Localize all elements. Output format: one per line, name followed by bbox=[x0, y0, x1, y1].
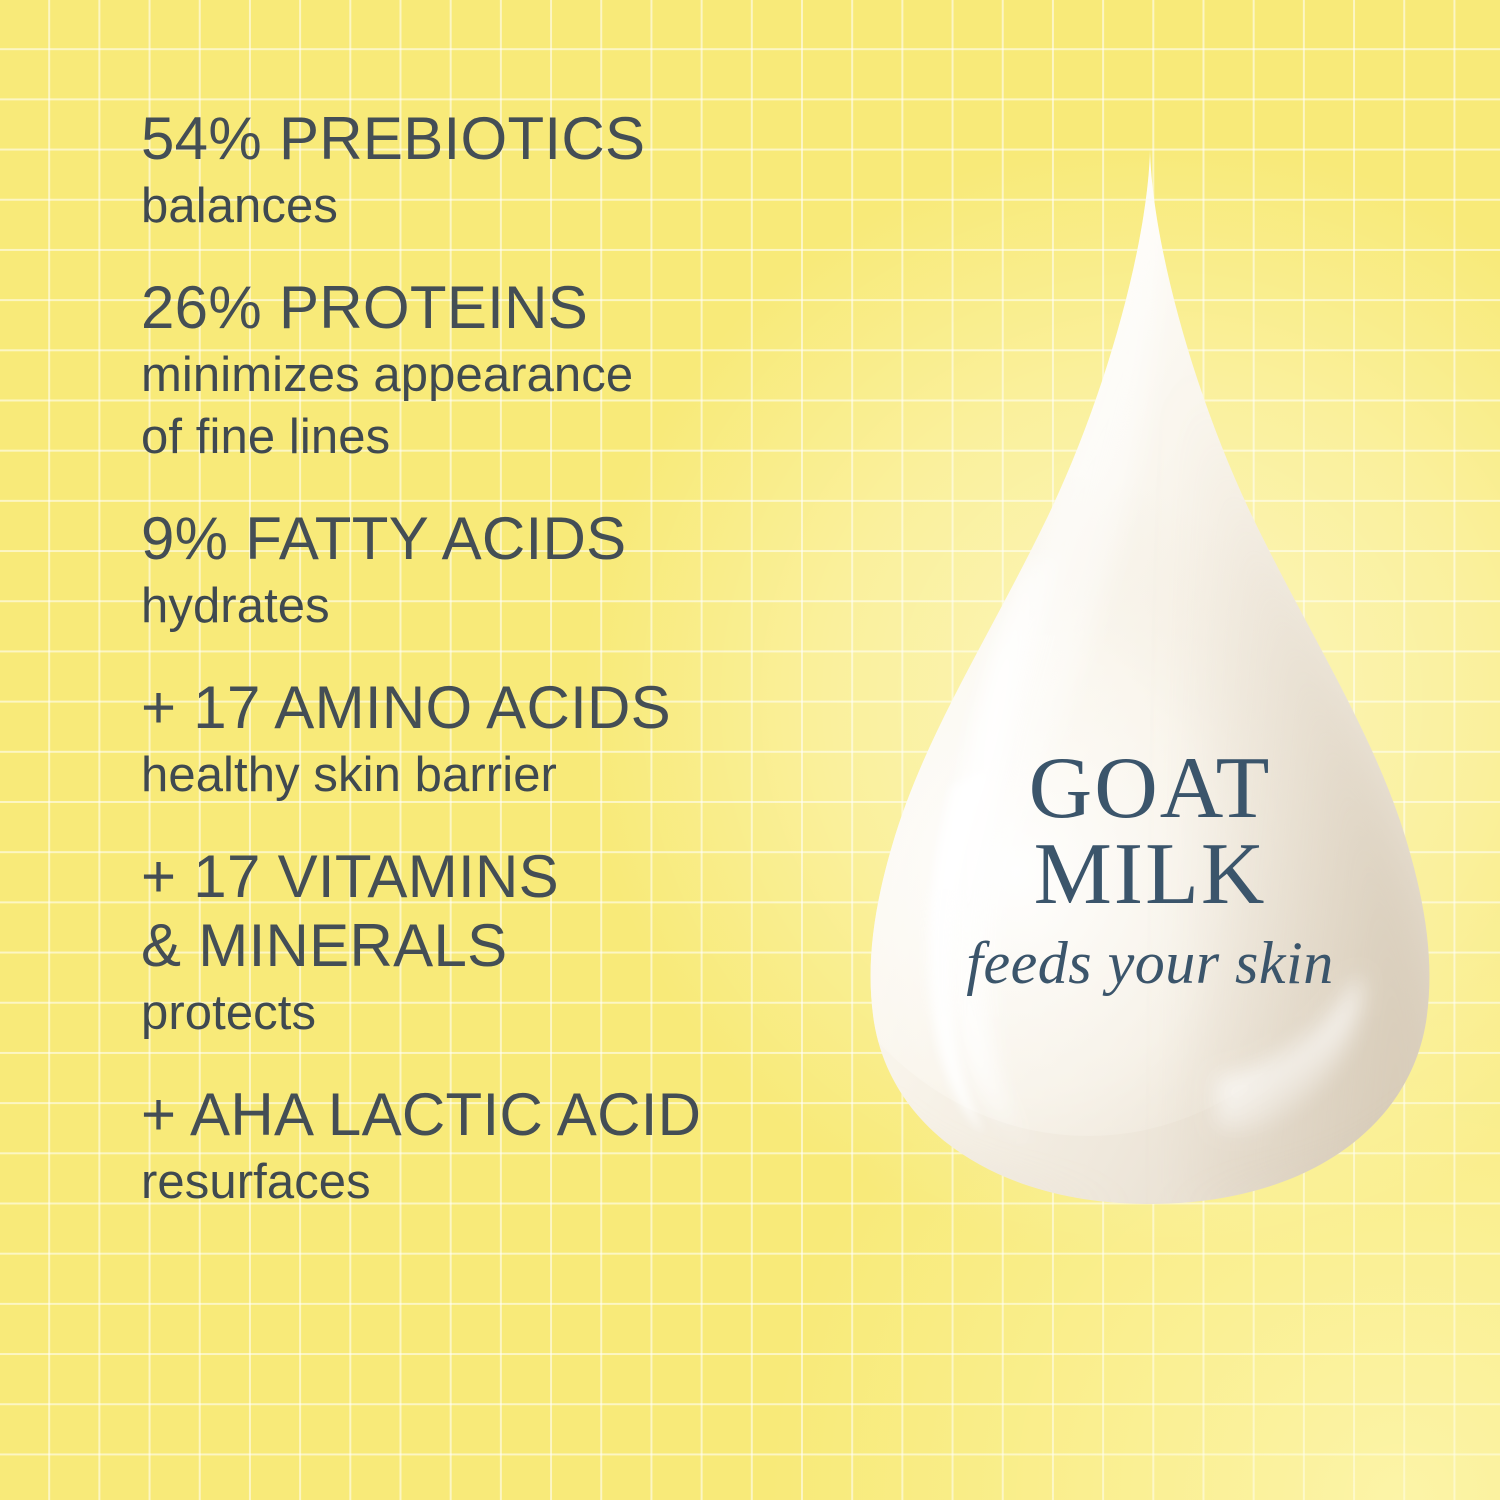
fact-item-proteins: 26% PROTEINS minimizes appearance of fin… bbox=[141, 273, 841, 468]
fact-headline: 26% PROTEINS bbox=[141, 273, 841, 342]
fact-headline: + AHA LACTIC ACID bbox=[141, 1080, 841, 1149]
fact-benefit: balances bbox=[141, 175, 841, 237]
droplet-icon bbox=[860, 146, 1440, 1208]
fact-item-amino-acids: + 17 AMINO ACIDS healthy skin barrier bbox=[141, 673, 841, 806]
ingredient-fact-list: 54% PREBIOTICS balances 26% PROTEINS min… bbox=[141, 104, 841, 1213]
fact-item-vitamins-minerals: + 17 VITAMINS & MINERALS protects bbox=[141, 842, 841, 1044]
fact-benefit: healthy skin barrier bbox=[141, 744, 841, 806]
brand-name-line-1: GOAT bbox=[860, 746, 1440, 832]
fact-benefit: protects bbox=[141, 982, 841, 1044]
fact-item-fatty-acids: 9% FATTY ACIDS hydrates bbox=[141, 504, 841, 637]
fact-headline: + 17 AMINO ACIDS bbox=[141, 673, 841, 742]
product-infographic: 54% PREBIOTICS balances 26% PROTEINS min… bbox=[0, 0, 1500, 1500]
fact-headline: 9% FATTY ACIDS bbox=[141, 504, 841, 573]
fact-benefit: minimizes appearance of fine lines bbox=[141, 344, 841, 468]
droplet-shading-group bbox=[860, 156, 1440, 1208]
fact-benefit: resurfaces bbox=[141, 1151, 841, 1213]
brand-tagline: feeds your skin bbox=[860, 928, 1440, 998]
milk-droplet-illustration: GOAT MILK feeds your skin bbox=[860, 146, 1440, 1208]
fact-headline: + 17 VITAMINS & MINERALS bbox=[141, 842, 841, 980]
fact-benefit: hydrates bbox=[141, 575, 841, 637]
fact-item-prebiotics: 54% PREBIOTICS balances bbox=[141, 104, 841, 237]
brand-lockup: GOAT MILK feeds your skin bbox=[860, 746, 1440, 998]
fact-headline: 54% PREBIOTICS bbox=[141, 104, 841, 173]
fact-item-aha-lactic-acid: + AHA LACTIC ACID resurfaces bbox=[141, 1080, 841, 1213]
brand-name-line-2: MILK bbox=[860, 832, 1440, 918]
